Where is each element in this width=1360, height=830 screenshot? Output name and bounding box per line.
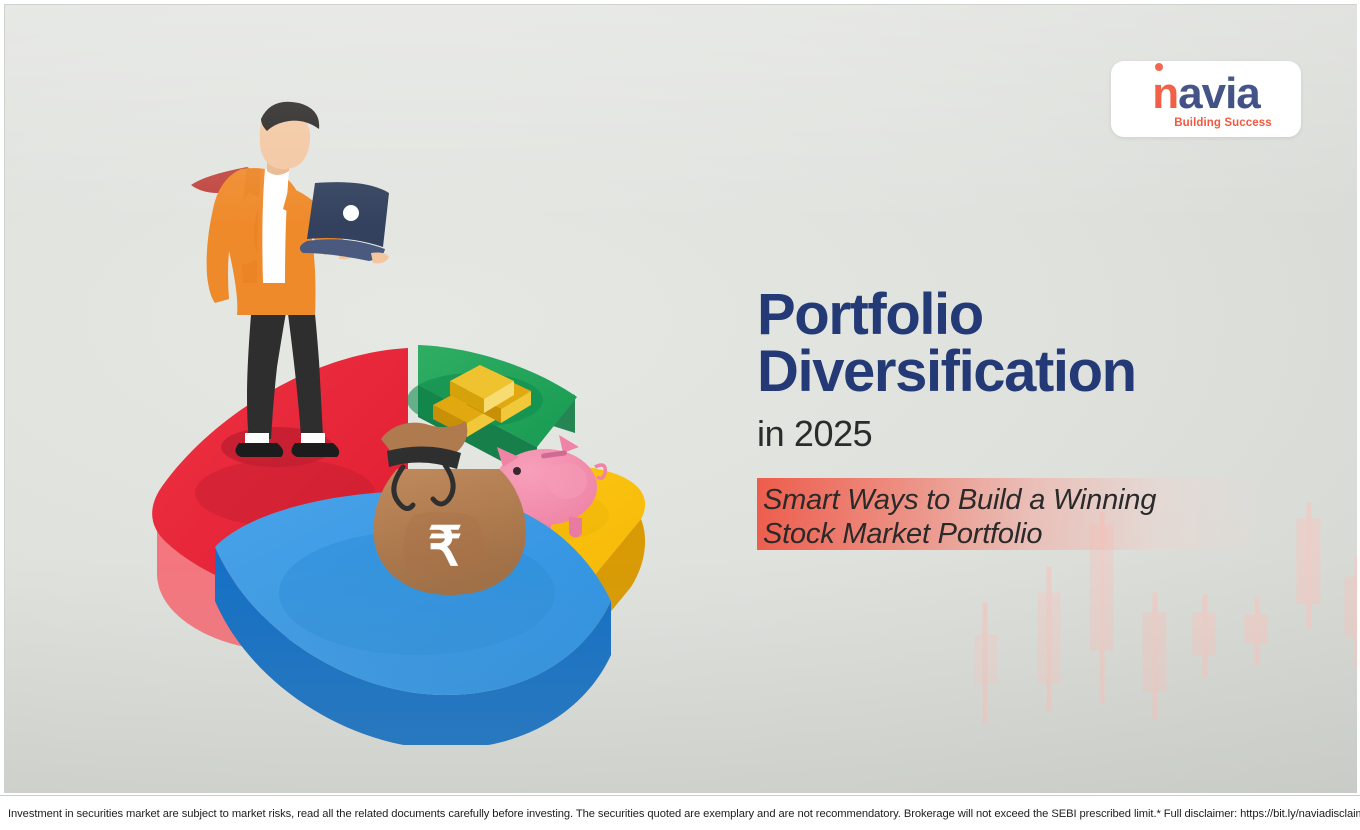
logo-letter-n: n [1152, 69, 1178, 118]
logo-wordmark: navia [1152, 72, 1260, 116]
poster-background: ₹ [4, 4, 1357, 793]
svg-text:₹: ₹ [428, 517, 462, 577]
subtitle-text: Smart Ways to Build a Winning Stock Mark… [757, 478, 1277, 557]
subtitle-block: Smart Ways to Build a Winning Stock Mark… [757, 478, 1277, 557]
logo-letters-avia: avia [1178, 69, 1260, 118]
portfolio-pie-illustration: ₹ [145, 95, 685, 745]
navia-logo-card[interactable]: navia Building Success [1111, 61, 1301, 137]
logo-tagline: Building Success [1174, 117, 1271, 129]
title-year-line: in 2025 [757, 413, 1317, 455]
headline-block: Portfolio Diversification in 2025 Smart … [757, 287, 1317, 557]
page-title: Portfolio Diversification [757, 287, 1317, 401]
disclaimer-text: Investment in securities market are subj… [0, 808, 1360, 820]
logo-dot-icon [1155, 63, 1163, 71]
disclaimer-bar: Investment in securities market are subj… [0, 795, 1360, 830]
poster-canvas: ₹ [0, 0, 1360, 830]
